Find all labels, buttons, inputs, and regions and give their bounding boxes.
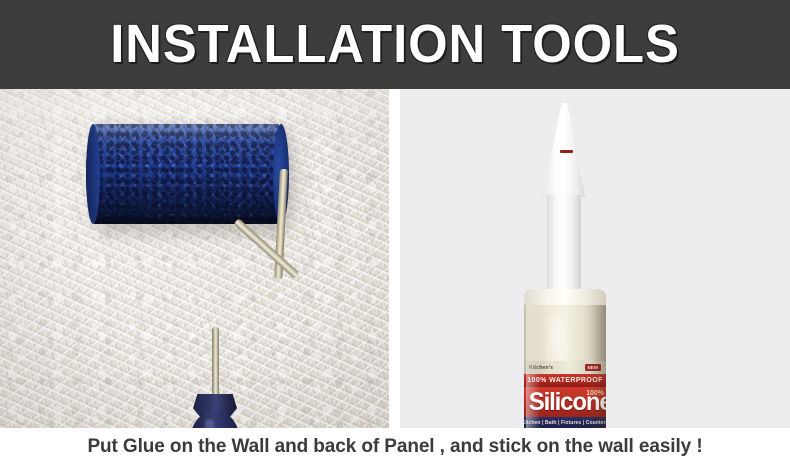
label-uses-band: Kitchen | Bath | Fixtures | Counters xyxy=(524,417,606,428)
label-product-superscript: 100% xyxy=(586,390,604,397)
installation-tools-banner: INSTALLATION TOOLS xyxy=(0,0,790,466)
label-brand-mark: Kitchen's xyxy=(529,365,553,371)
page-title: INSTALLATION TOOLS xyxy=(24,14,767,74)
roller-shading xyxy=(86,124,286,224)
photo-silicone-tube: Kitchen's NEW 100% WATERPROOF Silicone 1… xyxy=(400,89,790,428)
roller-end-left xyxy=(86,124,100,224)
roller-frame-lower xyxy=(212,327,219,403)
label-brand-chip: NEW xyxy=(585,364,602,371)
label-brand-row: Kitchen's NEW xyxy=(524,361,606,374)
photo-paint-roller xyxy=(0,89,389,428)
silicone-tube: Kitchen's NEW 100% WATERPROOF Silicone 1… xyxy=(516,89,612,428)
photo-strip: Kitchen's NEW 100% WATERPROOF Silicone 1… xyxy=(0,89,790,428)
caption-text: Put Glue on the Wall and back of Panel ,… xyxy=(87,436,702,458)
roller-handle-highlight xyxy=(205,419,214,428)
tube-nozzle-stem xyxy=(547,195,581,295)
tube-barrel: Kitchen's NEW 100% WATERPROOF Silicone 1… xyxy=(524,305,606,428)
tube-nozzle-cut-mark xyxy=(560,150,573,153)
label-product-band: Silicone 100% xyxy=(524,387,606,417)
label-waterproof-band: 100% WATERPROOF xyxy=(524,374,606,387)
caption-bar: Put Glue on the Wall and back of Panel ,… xyxy=(0,428,790,466)
roller-sleeve xyxy=(86,124,286,224)
header-banner: INSTALLATION TOOLS xyxy=(0,0,790,89)
